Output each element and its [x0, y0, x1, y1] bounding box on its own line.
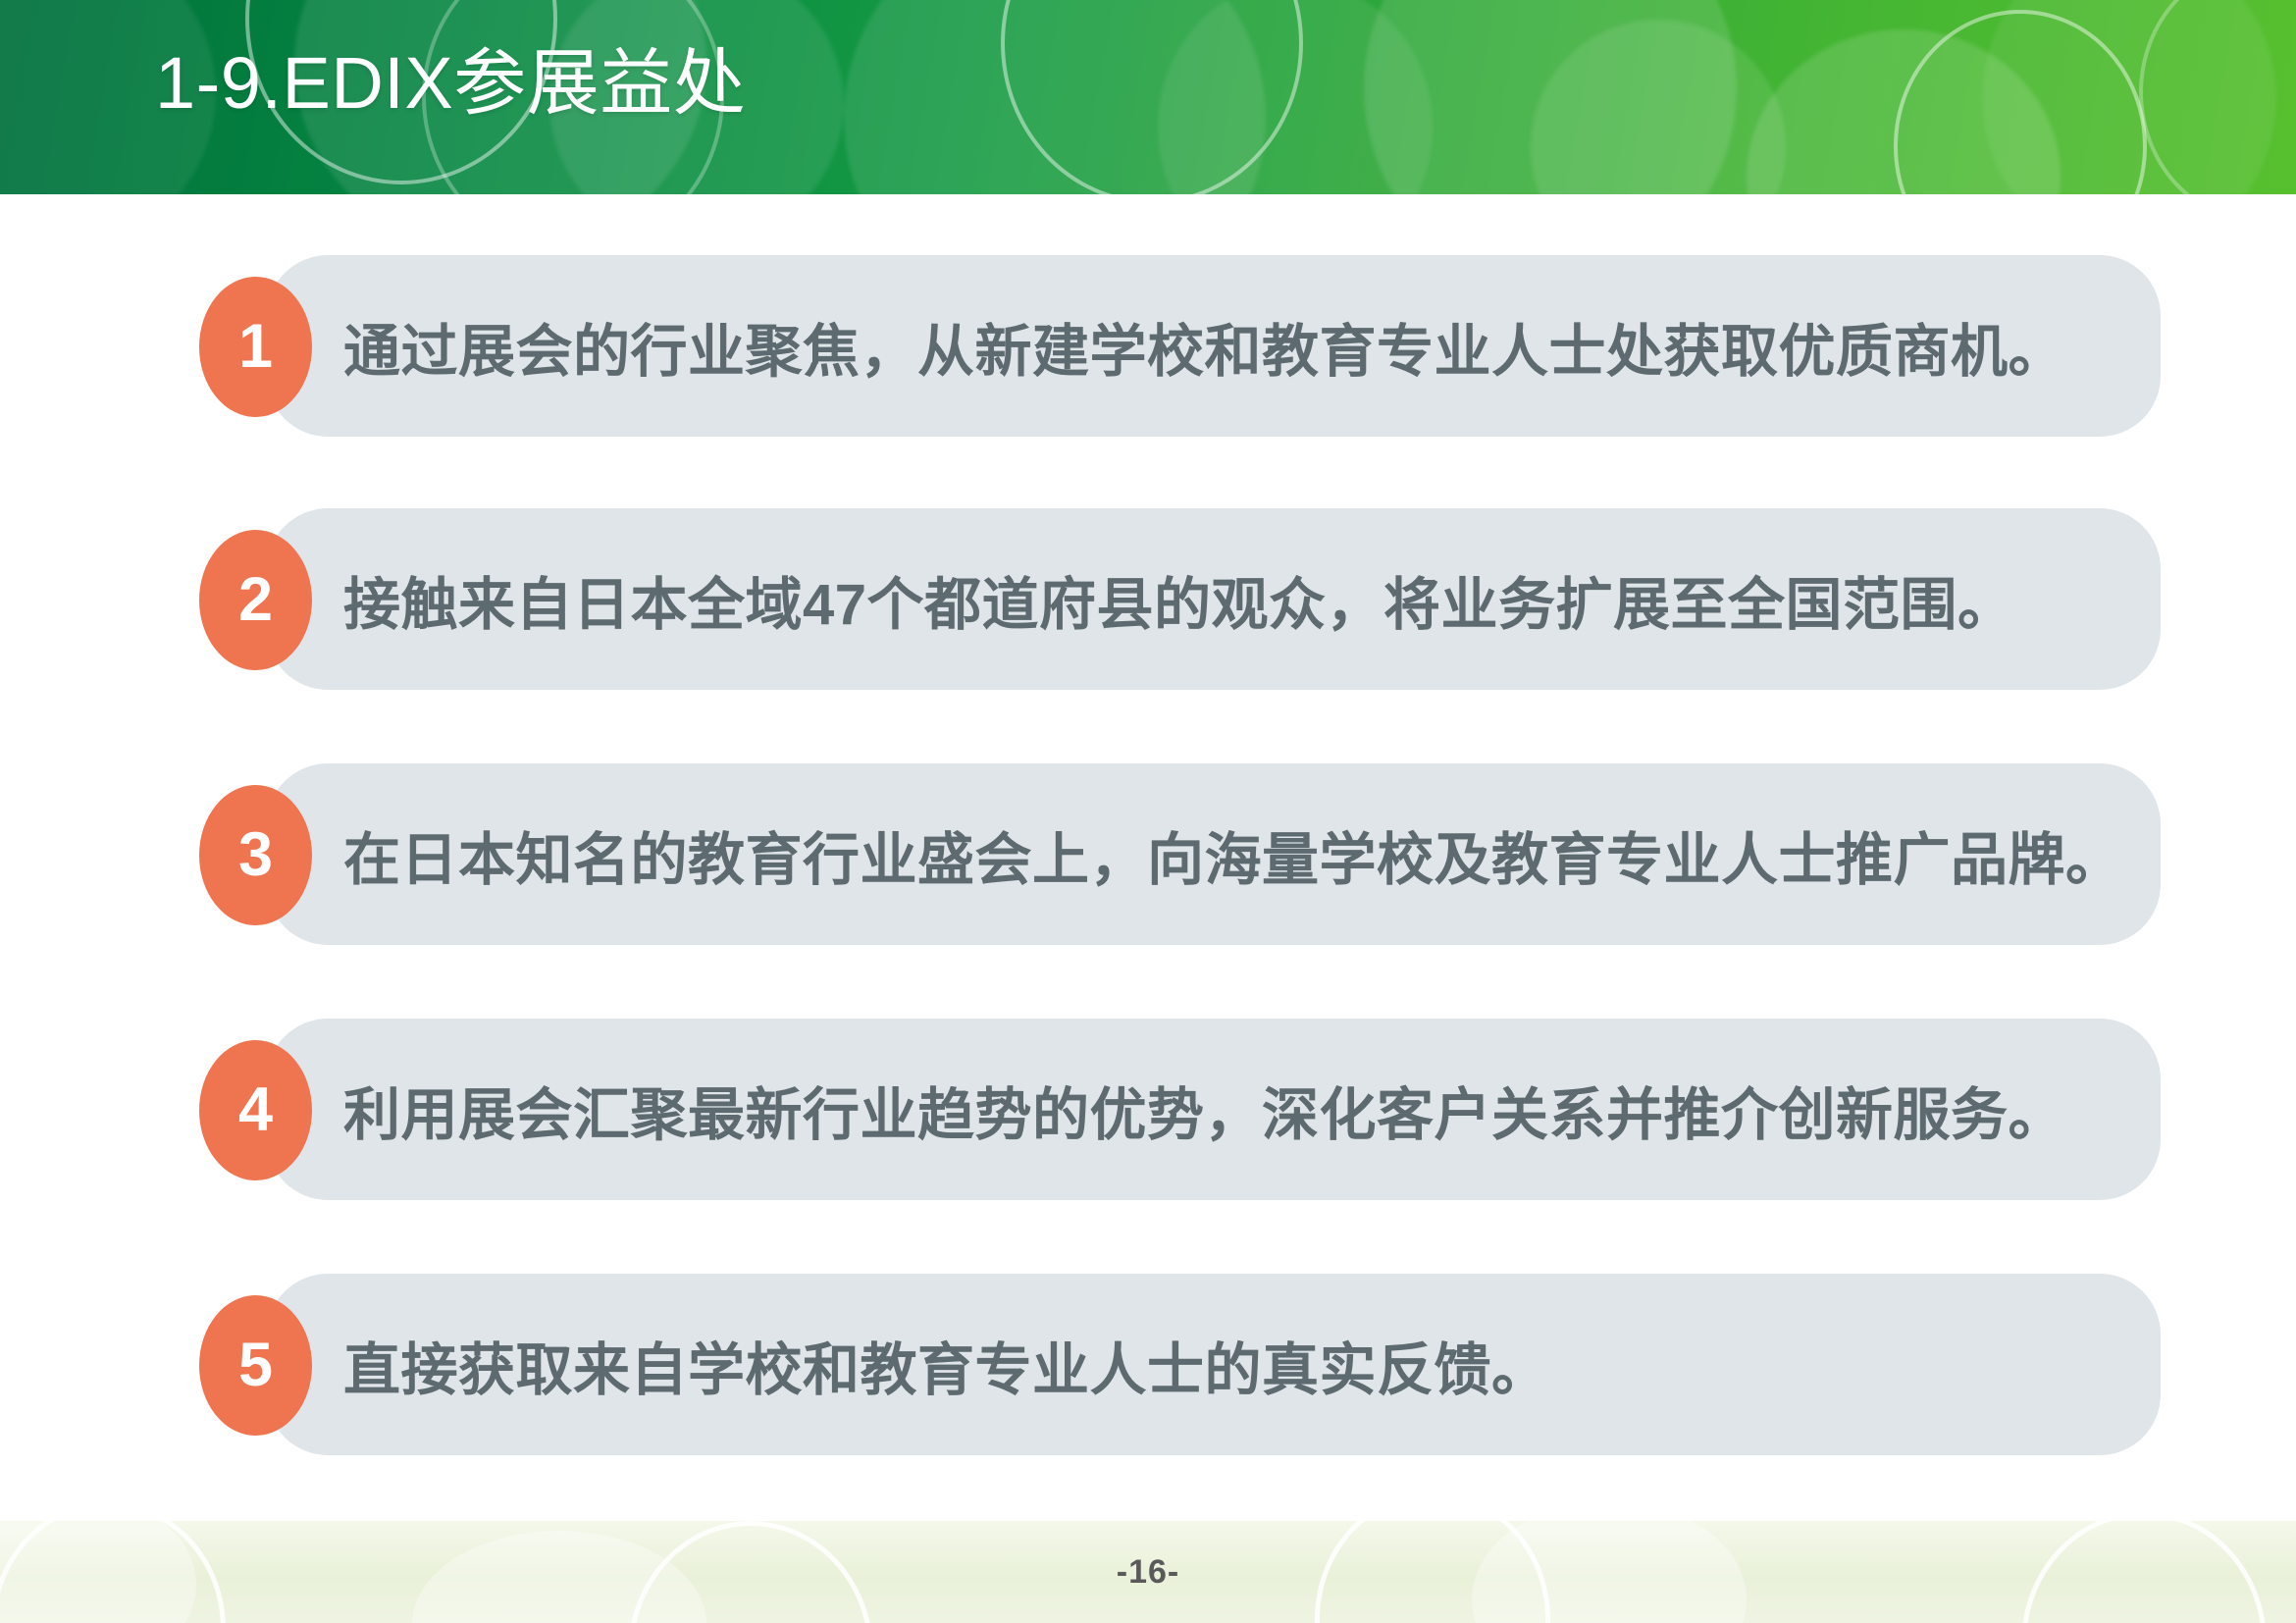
benefit-number: 1	[238, 316, 273, 378]
benefit-number: 3	[238, 824, 273, 886]
slide: 1-9.EDIX参展益处 1 通过展会的行业聚焦，从新建学校和教育专业人士处获取…	[0, 0, 2296, 1623]
header-ring	[1001, 0, 1303, 194]
benefit-row: 3 在日本知名的教育行业盛会上，向海量学校及教育专业人士推广品牌。	[0, 763, 2296, 945]
benefit-number-badge: 3	[199, 785, 312, 925]
benefits-list: 1 通过展会的行业聚焦，从新建学校和教育专业人士处获取优质商机。 2 接触来自日…	[0, 194, 2296, 1499]
slide-header: 1-9.EDIX参展益处	[0, 0, 2296, 194]
header-bubble	[1531, 20, 1786, 194]
benefit-row: 4 利用展会汇聚最新行业趋势的优势，深化客户关系并推介创新服务。	[0, 1019, 2296, 1200]
header-bubble	[1364, 0, 1737, 194]
header-bubble	[1158, 0, 1433, 194]
benefit-text: 直接获取来自学校和教育专业人士的真实反馈。	[343, 1274, 1549, 1455]
benefit-row: 1 通过展会的行业聚焦，从新建学校和教育专业人士处获取优质商机。	[0, 255, 2296, 437]
page-number: -16-	[0, 1521, 2296, 1623]
benefit-text: 利用展会汇聚最新行业趋势的优势，深化客户关系并推介创新服务。	[343, 1019, 2065, 1200]
benefit-number: 2	[238, 569, 273, 631]
benefit-row: 2 接触来自日本全域47个都道府县的观众，将业务扩展至全国范围。	[0, 508, 2296, 690]
page-title: 1-9.EDIX参展益处	[155, 29, 746, 137]
header-bubble	[1747, 29, 2061, 194]
benefit-number-badge: 1	[199, 277, 312, 417]
header-bubble	[1982, 0, 2276, 194]
benefit-number-badge: 4	[199, 1040, 312, 1180]
benefit-number-badge: 5	[199, 1295, 312, 1436]
benefit-text: 通过展会的行业聚焦，从新建学校和教育专业人士处获取优质商机。	[343, 255, 2065, 437]
header-bubble	[844, 0, 1266, 194]
benefit-number: 5	[238, 1335, 273, 1396]
header-ring	[2139, 0, 2296, 194]
benefit-number-badge: 2	[199, 530, 312, 670]
benefit-text: 接触来自日本全域47个都道府县的观众，将业务扩展至全国范围。	[343, 508, 2015, 690]
benefit-text: 在日本知名的教育行业盛会上，向海量学校及教育专业人士推广品牌。	[343, 763, 2123, 945]
slide-footer: -16-	[0, 1521, 2296, 1623]
benefit-number: 4	[238, 1079, 273, 1141]
benefit-row: 5 直接获取来自学校和教育专业人士的真实反馈。	[0, 1274, 2296, 1455]
header-ring	[1894, 10, 2147, 194]
